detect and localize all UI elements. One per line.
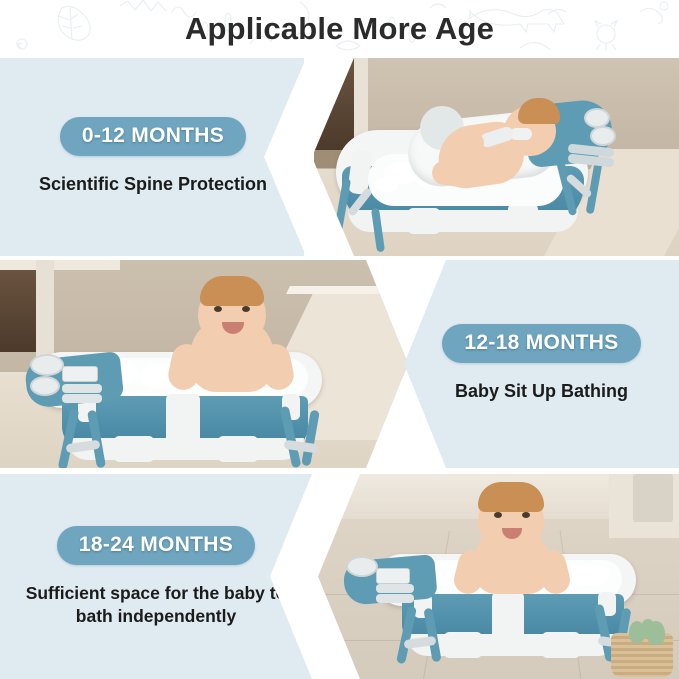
caption-0-12-months: Scientific Spine Protection <box>39 173 267 196</box>
text-panel-18-24-months: 18-24 MONTHS Sufficient space for the ba… <box>0 474 312 679</box>
temperature-knob-icon <box>346 556 378 577</box>
temperature-knob-icon <box>584 108 610 128</box>
temperature-knob-icon <box>30 354 64 376</box>
section-0-12-months: 0-12 MONTHS Scientific Spine Protection <box>0 58 679 256</box>
header: Applicable More Age <box>0 0 679 58</box>
caption-18-24-months: Sufficient space for the baby to bath in… <box>19 582 294 628</box>
section-18-24-months: 18-24 MONTHS Sufficient space for the ba… <box>0 474 679 679</box>
section-12-18-months: 12-18 MONTHS Baby Sit Up Bathing <box>0 260 679 468</box>
text-panel-0-12-months: 0-12 MONTHS Scientific Spine Protection <box>0 58 306 256</box>
page-title: Applicable More Age <box>0 0 679 58</box>
infographic-page: Applicable More Age 0-12 MONTHS Scientif… <box>0 0 679 679</box>
temperature-display <box>376 568 410 584</box>
photo-12-18-months <box>0 260 408 468</box>
age-badge-18-24-months: 18-24 MONTHS <box>57 526 255 565</box>
photo-0-12-months <box>312 58 679 256</box>
temperature-knob-icon-2 <box>30 376 60 396</box>
temperature-knob-icon-2 <box>590 126 616 146</box>
photo-18-24-months <box>318 474 679 679</box>
age-badge-12-18-months: 12-18 MONTHS <box>442 324 640 363</box>
age-badge-0-12-months: 0-12 MONTHS <box>60 117 246 156</box>
temperature-display <box>62 366 98 382</box>
text-panel-12-18-months: 12-18 MONTHS Baby Sit Up Bathing <box>404 260 679 468</box>
caption-12-18-months: Baby Sit Up Bathing <box>455 380 628 403</box>
